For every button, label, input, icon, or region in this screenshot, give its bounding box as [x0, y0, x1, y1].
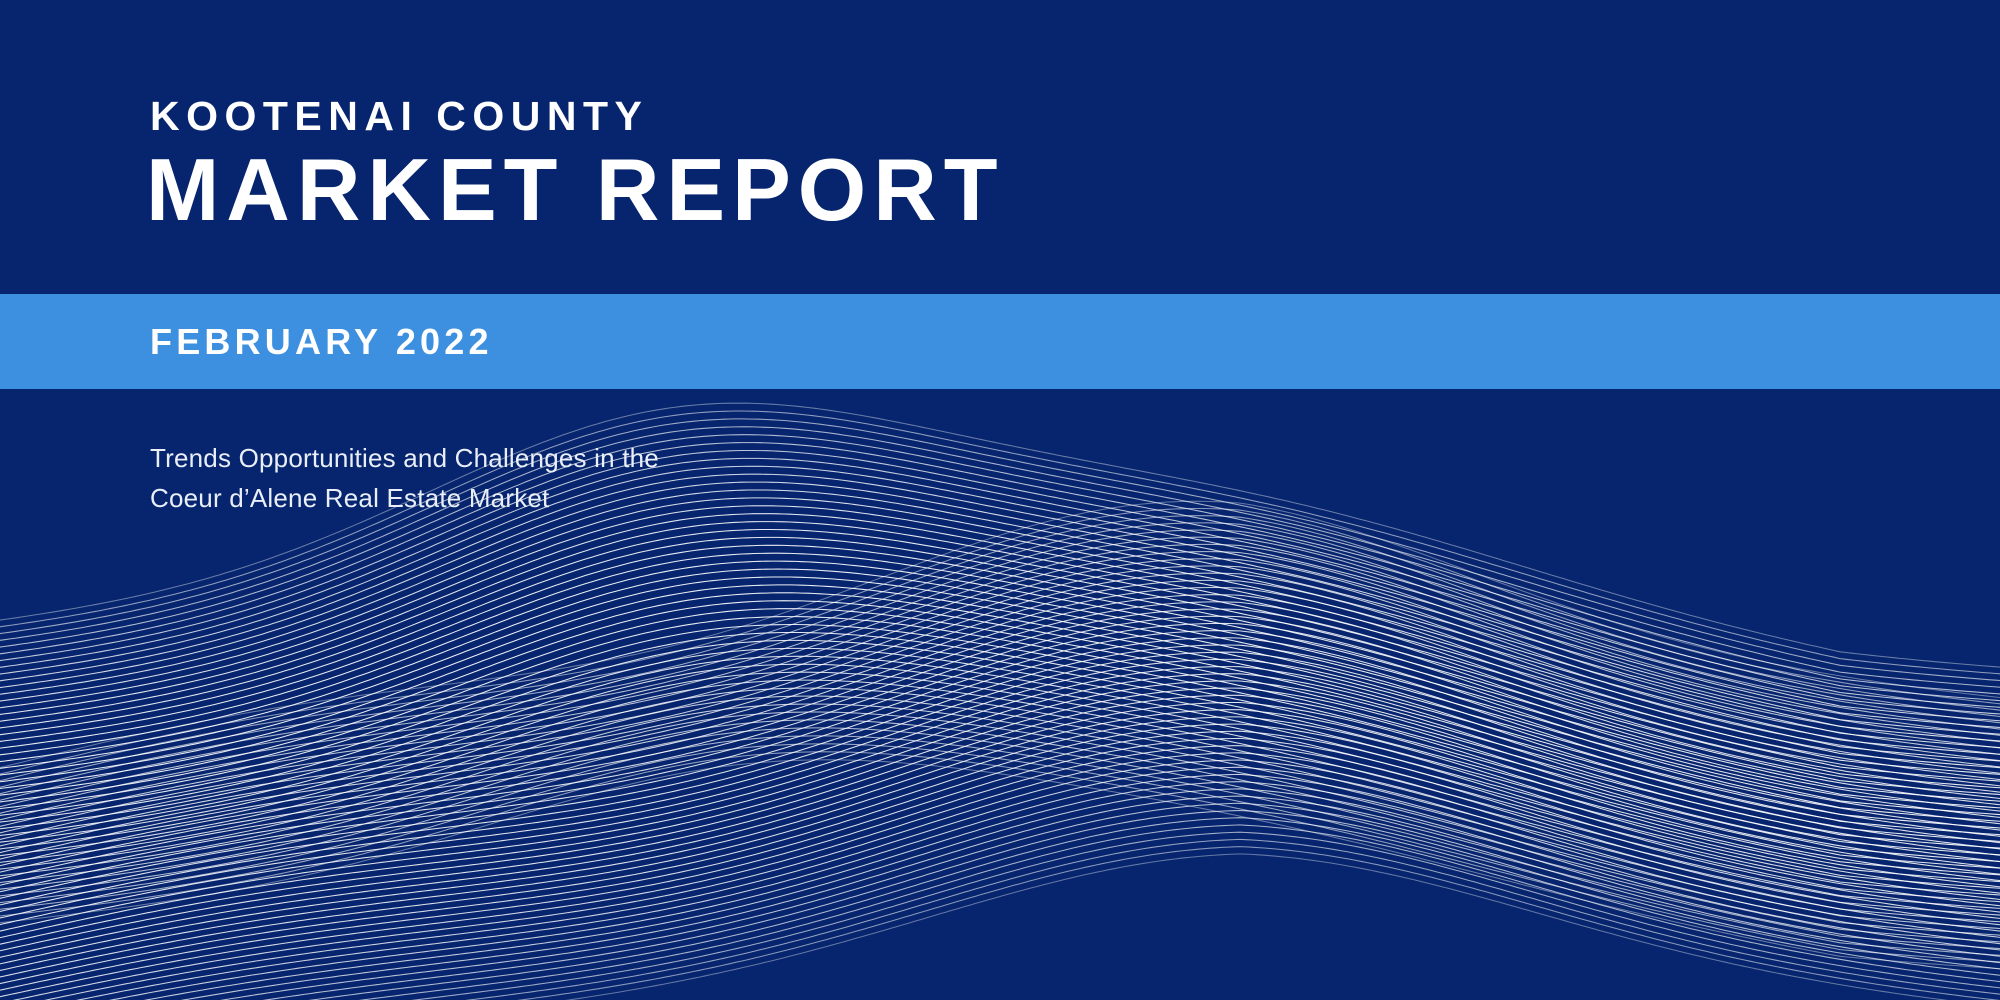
report-cover: KOOTENAI COUNTY MARKET REPORT FEBRUARY 2… — [0, 0, 2000, 1000]
period-label: FEBRUARY 2022 — [150, 324, 493, 360]
title-block: KOOTENAI COUNTY MARKET REPORT — [0, 0, 2000, 294]
county-eyebrow: KOOTENAI COUNTY — [150, 96, 648, 137]
subtitle-line-1: Trends Opportunities and Challenges in t… — [150, 438, 659, 478]
wave-family-b — [0, 501, 2000, 1000]
subtitle-line-2: Coeur d’Alene Real Estate Market — [150, 478, 659, 518]
subtitle-block: Trends Opportunities and Challenges in t… — [150, 438, 659, 518]
period-band: FEBRUARY 2022 — [0, 294, 2000, 389]
page-title: MARKET REPORT — [146, 146, 1005, 234]
